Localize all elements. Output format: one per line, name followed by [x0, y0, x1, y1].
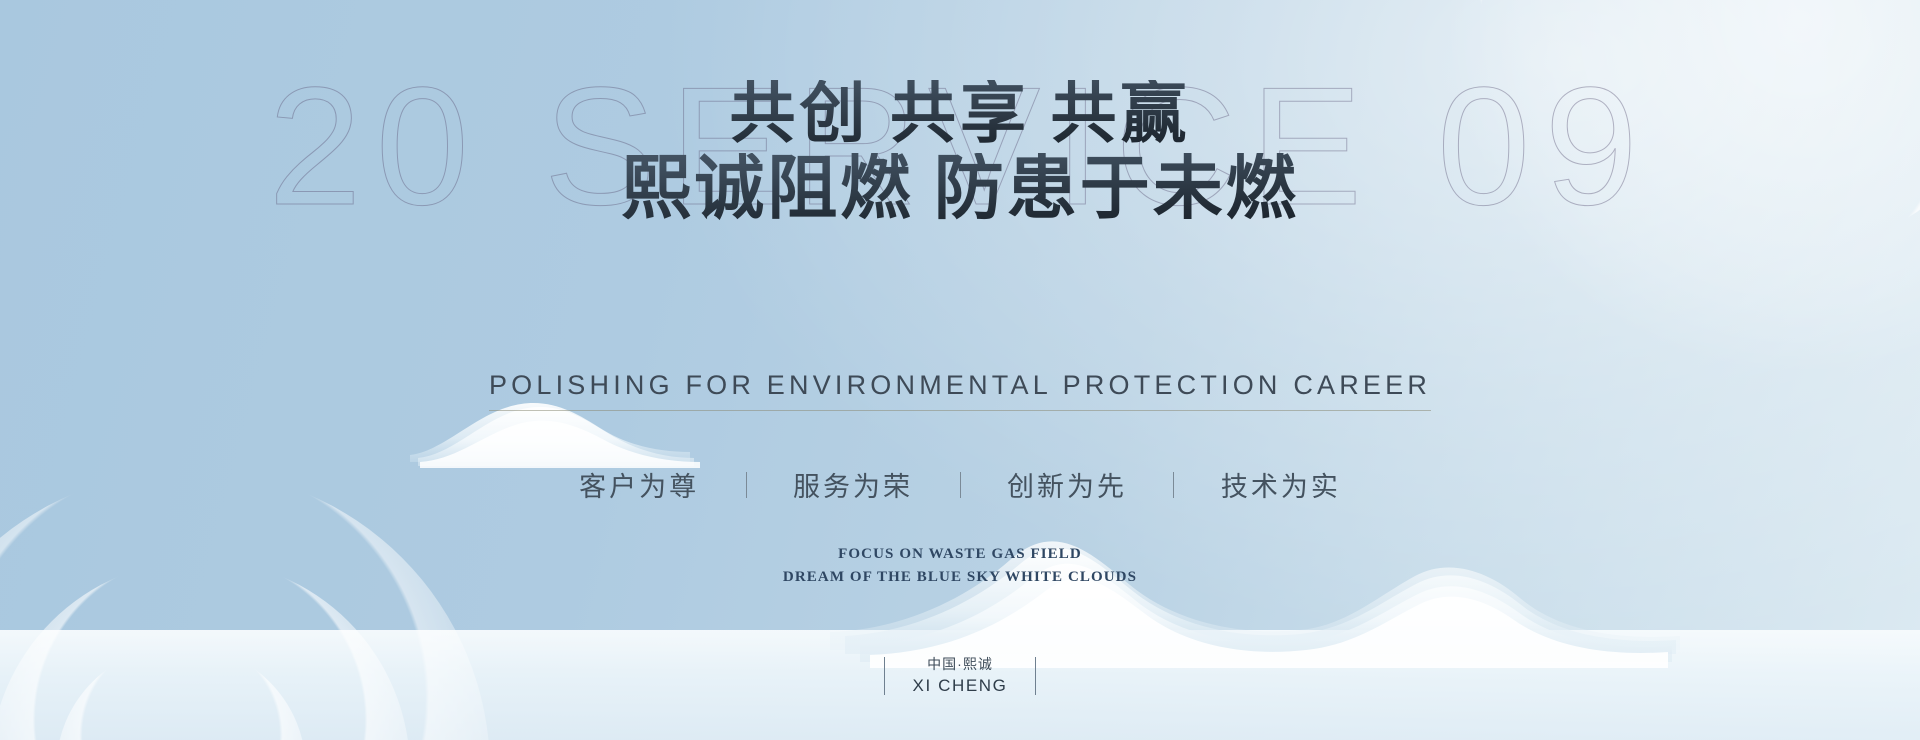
headline-group: 共创 共享 共赢 熙诚阻燃 防患于未燃: [0, 80, 1920, 227]
english-tagline: POLISHING FOR ENVIRONMENTAL PROTECTION C…: [489, 370, 1431, 411]
serif-subtitle-group: FOCUS ON WASTE GAS FIELD DREAM OF THE BL…: [0, 543, 1920, 590]
value-item-1: 客户为尊: [579, 465, 699, 504]
serif-subtitle-line-1: FOCUS ON WASTE GAS FIELD: [0, 543, 1920, 566]
promo-banner: 20 SERVICE 09 共创 共享 共赢 熙诚阻燃 防患于未燃 POLISH…: [0, 0, 1920, 740]
logo-divider-left: [884, 657, 885, 695]
tagline-wrapper: POLISHING FOR ENVIRONMENTAL PROTECTION C…: [0, 370, 1920, 411]
logo-text-group: 中国·熙诚 XI CHENG: [913, 654, 1008, 698]
value-separator-1: [746, 472, 747, 498]
brand-logo: 中国·熙诚 XI CHENG: [0, 654, 1920, 698]
value-separator-3: [1173, 472, 1174, 498]
value-item-4: 技术为实: [1221, 465, 1341, 504]
logo-divider-right: [1035, 657, 1036, 695]
logo-english-name: XI CHENG: [913, 675, 1008, 698]
headline-line-2: 熙诚阻燃 防患于未燃: [0, 153, 1920, 227]
cloud-left-icon: [410, 403, 700, 468]
logo-chinese-name: 中国·熙诚: [913, 654, 1008, 675]
serif-subtitle-line-2: DREAM OF THE BLUE SKY WHITE CLOUDS: [0, 566, 1920, 589]
headline-line-1: 共创 共享 共赢: [0, 80, 1920, 149]
value-item-3: 创新为先: [1007, 465, 1127, 504]
values-row: 客户为尊 服务为荣 创新为先 技术为实: [0, 465, 1920, 504]
value-item-2: 服务为荣: [793, 465, 913, 504]
value-separator-2: [960, 472, 961, 498]
